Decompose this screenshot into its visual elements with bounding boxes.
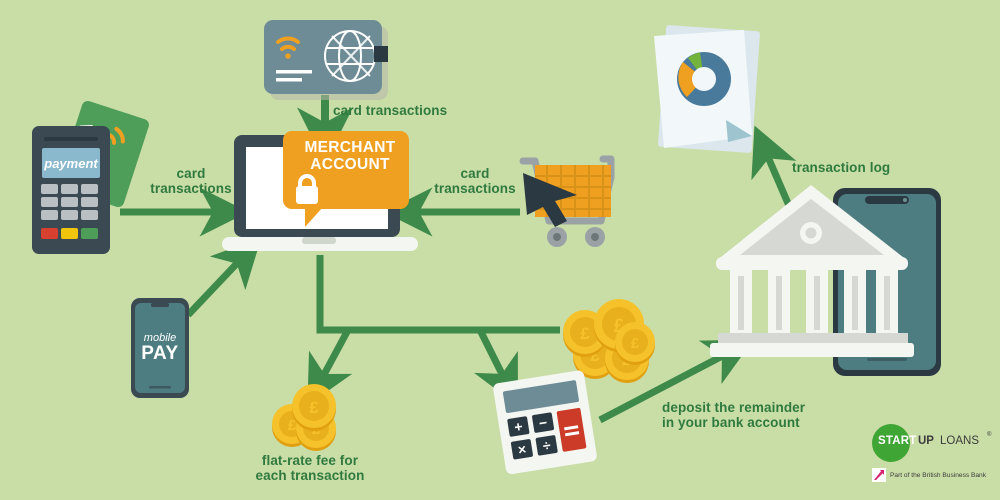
transaction-log-document[interactable] bbox=[648, 24, 768, 164]
svg-text:£: £ bbox=[580, 324, 590, 343]
logo-trademark: ® bbox=[987, 432, 991, 438]
bank-columns bbox=[730, 270, 898, 336]
card-terminal[interactable]: payment bbox=[24, 104, 154, 264]
merchant-bubble-text: MERCHANT ACCOUNT bbox=[291, 139, 409, 173]
mobile-pay-text: mobile PAY bbox=[135, 331, 185, 361]
contactless-card-top[interactable] bbox=[258, 14, 398, 100]
terminal-screen-text: payment bbox=[43, 156, 98, 171]
logo-start: START bbox=[878, 435, 916, 447]
logo[interactable]: START UP LOANS ® Part of the British Bus… bbox=[872, 424, 994, 482]
infographic-canvas: payment card transactions card transacti… bbox=[0, 0, 1000, 500]
merchant-bubble-line1: MERCHANT bbox=[291, 139, 409, 156]
donut-chart-icon bbox=[677, 52, 731, 106]
logo-loans: LOANS bbox=[940, 435, 979, 447]
padlock-icon bbox=[292, 174, 322, 206]
arrow-mobile-to-laptop bbox=[188, 257, 243, 315]
arrow-to-flat-fee-coins bbox=[320, 330, 348, 382]
bank-building[interactable] bbox=[716, 183, 916, 363]
svg-text:£: £ bbox=[631, 335, 640, 352]
mobile-pay-line2: PAY bbox=[135, 346, 185, 361]
label-flat-rate-fee: flat-rate fee for each transaction bbox=[250, 453, 370, 483]
coins-flat-fee: £ £ £ bbox=[268, 383, 352, 453]
label-transaction-log: transaction log bbox=[792, 160, 890, 175]
british-business-bank-icon bbox=[872, 468, 886, 482]
merchant-bubble-line2: ACCOUNT bbox=[291, 156, 409, 173]
shopping-cart[interactable] bbox=[515, 145, 635, 255]
label-deposit-remainder: deposit the remainder in your bank accou… bbox=[662, 400, 805, 430]
logo-strapline: Part of the British Business Bank bbox=[890, 472, 986, 479]
label-card-transactions-top: card transactions bbox=[333, 103, 447, 118]
terminal-keypad[interactable] bbox=[41, 184, 98, 220]
calculator[interactable]: +− ×÷ bbox=[495, 372, 600, 472]
logo-up: UP bbox=[918, 435, 934, 447]
arrow-laptop-split-stem bbox=[320, 255, 560, 330]
svg-text:£: £ bbox=[309, 398, 319, 417]
label-card-transactions-right: card transactions bbox=[420, 166, 530, 196]
